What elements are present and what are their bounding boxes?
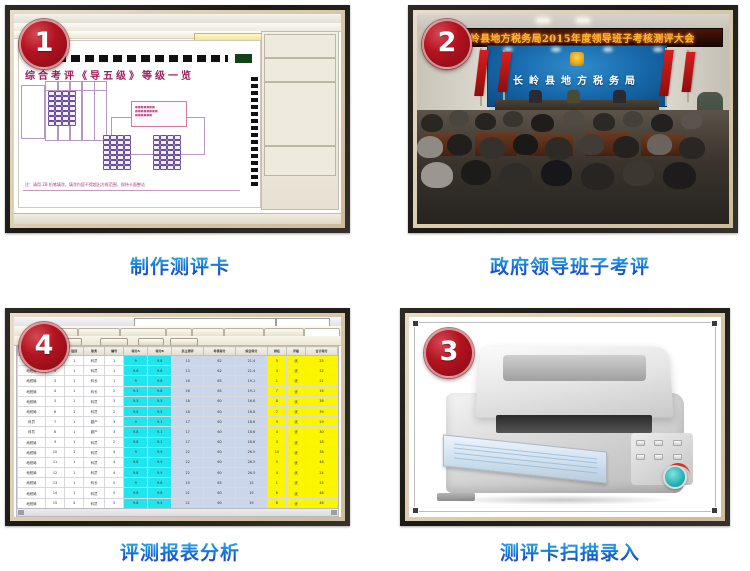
step-badge-1: 1 (19, 19, 69, 69)
answer-bubble (110, 165, 117, 170)
table-cell: 60 (204, 498, 236, 508)
table-cell: 优 (286, 457, 305, 467)
panel-key (654, 454, 663, 460)
audience-head (475, 113, 496, 130)
table-cell: 19.1 (235, 376, 267, 386)
table-cell: 21 (306, 376, 338, 386)
table-cell: 9.8 (148, 376, 172, 386)
table-cell: 地税局 (18, 478, 46, 488)
app1-property-panel[interactable] (261, 31, 339, 210)
table-cell: 9.8 (124, 457, 148, 467)
table-cell: 1 (267, 376, 286, 386)
table-cell: 65 (204, 386, 236, 396)
table-cell: 1 (65, 366, 84, 376)
panel-key (673, 440, 682, 446)
table-cell: 65 (204, 478, 236, 488)
table-cell: 22 (172, 468, 204, 478)
table-cell: 4 (267, 468, 286, 478)
table-cell: 29 (306, 417, 338, 427)
audience-head (623, 160, 654, 186)
table-cell: 60 (204, 427, 236, 437)
audience-head (663, 162, 696, 189)
table-cell: 21 (172, 488, 204, 498)
table-cell: 60 (204, 447, 236, 457)
table-cell: 优 (286, 386, 305, 396)
table-cell: 地税局 (18, 376, 46, 386)
table-row[interactable]: 科员71副产399.1176018.69优29 (18, 417, 338, 427)
step-badge-4: 4 (19, 322, 69, 372)
form-footnote: 注：请用 2B 铅笔填涂，填涂内容不得超出方框范围，保持卡面整洁 (25, 182, 230, 188)
audience-head (593, 113, 615, 131)
form-table-1-col4 (81, 81, 95, 141)
panel-4[interactable]: 单位序号组别职务编号得分A得分B民主测评考核得分综合得分排名评级合计得分 1科员… (5, 308, 350, 526)
panel-2[interactable]: 长岭县地方税务局2015年度领导班子考核测评大会 长岭县地方税务局 (408, 5, 738, 233)
scanner-shadow (446, 495, 677, 505)
table-cell: 21.4 (235, 356, 267, 366)
prop-group-4 (264, 146, 336, 176)
audience-head (581, 163, 614, 190)
table-cell: 地税局 (18, 437, 46, 447)
table-cell: 地税局 (18, 488, 46, 498)
audience-head (563, 110, 584, 127)
table-cell: 科长 (84, 478, 105, 488)
audience-head (449, 110, 469, 126)
audience-head (545, 137, 572, 160)
table-cell: 5 (45, 396, 64, 406)
audience-head (531, 114, 554, 132)
scanner-start-button[interactable] (663, 465, 687, 489)
table-cell: 9.6 (124, 366, 148, 376)
prop-group-2 (264, 58, 336, 82)
scroll-right-arrow[interactable] (331, 510, 337, 515)
answer-bubble (55, 121, 62, 126)
panel-3[interactable]: 3 (400, 308, 730, 526)
column-header[interactable]: 合计得分 (306, 347, 338, 356)
table-cell: 优 (286, 406, 305, 416)
table-cell: 5 (105, 498, 124, 508)
form-foot-rule (23, 190, 240, 191)
table-cell: 地税局 (18, 468, 46, 478)
table-cell: 科员 (18, 417, 46, 427)
table-cell: 39 (306, 406, 338, 416)
table-cell: 1 (65, 437, 84, 447)
table-cell: 18 (306, 437, 338, 447)
table-cell: 科员 (84, 468, 105, 478)
bubble-grid-b (103, 135, 130, 169)
table-cell: 11 (45, 457, 64, 467)
table-cell: 5 (267, 356, 286, 366)
column-header[interactable]: 综合得分 (235, 347, 267, 356)
column-header[interactable]: 民主测评 (172, 347, 204, 356)
table-cell: 9.6 (124, 406, 148, 416)
answer-bubble (167, 165, 174, 170)
answer-bubble (153, 165, 160, 170)
table-cell: 4 (45, 386, 64, 396)
table-row[interactable]: 地税局41科长29.39.8166519.17优16 (18, 386, 338, 396)
resize-handle-tl (412, 320, 419, 327)
table-cell: 科员 (84, 447, 105, 457)
panel-key (636, 440, 645, 446)
table-cell: 8 (267, 498, 286, 508)
table-cell: 26.5 (235, 447, 267, 457)
table-row[interactable]: 地税局51科员39.59.5186016.88优38 (18, 396, 338, 406)
column-header[interactable]: 得分B (148, 347, 172, 356)
table-cell: 1 (65, 427, 84, 437)
table-cell: 38 (306, 447, 338, 457)
table-cell: 9 (124, 447, 148, 457)
table-cell: 科员 (18, 427, 46, 437)
table-cell: 9.8 (148, 386, 172, 396)
table-cell: 21 (172, 498, 204, 508)
table-cell: 8 (267, 488, 286, 498)
audience-head (647, 134, 672, 155)
table-row[interactable]: 地税局31科长199.8166519.11优21 (18, 376, 338, 386)
answer-bubble (62, 121, 69, 126)
table-cell: 9 (267, 417, 286, 427)
column-header[interactable]: 编号 (105, 347, 124, 356)
answer-bubble (174, 165, 181, 170)
table-cell: 1 (105, 366, 124, 376)
table-cell: 17 (172, 427, 204, 437)
table-cell: 9.8 (148, 488, 172, 498)
table-cell: 5 (105, 478, 124, 488)
table-row[interactable]: 地税局21科员19.69.8136221.43优32 (18, 366, 338, 376)
answer-bubble (117, 165, 124, 170)
audience-head (579, 134, 604, 155)
tax-bureau-emblem-icon (570, 52, 584, 66)
prop-group-3 (264, 82, 336, 146)
table-cell: 16 (306, 386, 338, 396)
table-cell: 26.5 (235, 457, 267, 467)
step-badge-3: 3 (424, 328, 474, 378)
table-cell: 科员 (84, 396, 105, 406)
table-cell: 9.8 (124, 498, 148, 508)
table-row[interactable]: 地税局61科员29.69.5186016.87优39 (18, 406, 338, 416)
table-cell: 1 (65, 468, 84, 478)
scroll-left-arrow[interactable] (18, 510, 24, 515)
report-table: 单位序号组别职务编号得分A得分B民主测评考核得分综合得分排名评级合计得分 1科员… (17, 346, 338, 509)
report-table-wrapper[interactable]: 单位序号组别职务编号得分A得分B民主测评考核得分综合得分排名评级合计得分 1科员… (16, 345, 339, 509)
table-cell: 4 (65, 498, 84, 508)
answer-bubble (103, 165, 110, 170)
table-row[interactable]: 地税局91科员29.89.1176018.63优18 (18, 437, 338, 447)
table-cell: 9 (124, 417, 148, 427)
table-cell: 46 (306, 498, 338, 508)
audience-head (421, 114, 443, 132)
table-cell: 1 (65, 396, 84, 406)
table-cell: 9.9 (148, 468, 172, 478)
table-cell: 1 (65, 406, 84, 416)
stage-spotlight (653, 47, 663, 52)
table-cell: 3 (267, 366, 286, 376)
table-cell: 9.5 (124, 396, 148, 406)
table-cell: 优 (286, 498, 305, 508)
table-cell: 10 (267, 447, 286, 457)
table-cell: 1 (65, 488, 84, 498)
table-cell: 9.1 (148, 437, 172, 447)
table-cell: 38 (306, 396, 338, 406)
column-header[interactable]: 评级 (286, 347, 305, 356)
panel-key (673, 454, 682, 460)
horizontal-scrollbar[interactable] (16, 508, 339, 517)
table-cell: 1 (65, 386, 84, 396)
form-title: 综合考评《导五级》等级一览 (25, 67, 194, 82)
table-cell: 科长 (84, 376, 105, 386)
table-cell: 1 (65, 447, 84, 457)
table-cell: 15 (45, 498, 64, 508)
panel-1[interactable]: 综合考评《导五级》等级一览 (5, 5, 350, 233)
table-cell: 3 (105, 396, 124, 406)
table-cell: 19 (235, 488, 267, 498)
audience-head (513, 134, 538, 155)
audience-head (541, 160, 572, 186)
table-cell: 26.5 (235, 468, 267, 478)
audience-head (681, 112, 702, 129)
answer-bubble (124, 165, 131, 170)
table-cell: 3 (45, 376, 64, 386)
audience-head (447, 134, 472, 155)
table-cell: 1 (65, 417, 84, 427)
table-cell: 科员 (84, 356, 105, 366)
table-cell: 优 (286, 417, 305, 427)
table-row[interactable]: 地税局111科员49.89.9226026.55优46 (18, 457, 338, 467)
prop-group-1 (264, 34, 336, 58)
table-cell: 9 (45, 437, 64, 447)
table-cell: 1 (65, 356, 84, 366)
table-cell: 46 (306, 457, 338, 467)
stage-spotlight (603, 47, 613, 52)
answer-bubble (160, 165, 167, 170)
table-cell: 1 (105, 376, 124, 386)
instruction-box: ■■■■■■■■■■■■■■■■■■■■■ (131, 101, 187, 127)
table-cell: 2 (105, 437, 124, 447)
column-header[interactable]: 考核得分 (204, 347, 236, 356)
column-header[interactable]: 得分A (124, 347, 148, 356)
table-cell: 优 (286, 366, 305, 376)
column-header[interactable]: 职务 (84, 347, 105, 356)
table-cell: 19 (172, 478, 204, 488)
table-cell: 19 (235, 498, 267, 508)
table-cell: 科员 (84, 366, 105, 376)
app1-statusbar (14, 213, 341, 224)
table-cell: 6 (45, 406, 64, 416)
table-cell: 30 (306, 427, 338, 437)
seated-official (567, 90, 580, 103)
table-cell: 优 (286, 447, 305, 457)
audience-head (461, 160, 491, 185)
table-cell: 5 (267, 457, 286, 467)
table-cell: 60 (204, 417, 236, 427)
table-cell: 9.8 (124, 488, 148, 498)
table-cell: 19.1 (235, 386, 267, 396)
table-cell: 科员 (84, 437, 105, 447)
resize-handle-tr (711, 320, 718, 327)
table-cell: 9.9 (148, 447, 172, 457)
table-cell: 地税局 (18, 406, 46, 416)
scanner-feed-slot (496, 415, 652, 433)
table-cell: 15 (235, 478, 267, 488)
step-badge-2: 2 (422, 19, 472, 69)
panel-4-caption: 评测报表分析 (0, 538, 360, 565)
audience-head (421, 162, 453, 188)
stage-spotlight (551, 47, 561, 52)
table-cell: 5 (105, 488, 124, 498)
table-cell: 18.6 (235, 437, 267, 447)
table-cell: 3 (105, 417, 124, 427)
table-cell: 地税局 (18, 447, 46, 457)
table-cell: 16.8 (235, 406, 267, 416)
scanner-output-tray (503, 355, 647, 381)
table-cell: 9.8 (124, 437, 148, 447)
table-cell: 24 (306, 468, 338, 478)
table-cell: 副产 (84, 417, 105, 427)
table-cell: 地税局 (18, 396, 46, 406)
table-cell: 优 (286, 356, 305, 366)
table-cell: 科长 (84, 386, 105, 396)
panel-2-caption: 政府领导班子考评 (390, 252, 750, 279)
seated-official (613, 90, 626, 103)
table-cell: 9.5 (148, 406, 172, 416)
ceiling-light (537, 19, 549, 22)
table-cell: 优 (286, 376, 305, 386)
table-cell: 9.9 (148, 457, 172, 467)
table-cell: 9 (124, 478, 148, 488)
table-cell: 3 (105, 427, 124, 437)
table-cell: 优 (286, 396, 305, 406)
table-cell: 9.8 (148, 478, 172, 488)
seated-official (529, 90, 542, 103)
table-cell: 2 (105, 386, 124, 396)
audience-head (623, 111, 643, 127)
instruction-text: ■■■■■■■■■■■■■■■■■■■■■ (135, 105, 158, 117)
table-cell: 科员 (84, 488, 105, 498)
table-cell: 10 (45, 447, 64, 457)
table-cell: 65 (204, 376, 236, 386)
table-cell: 9.1 (148, 427, 172, 437)
bubble-grid-c (153, 135, 180, 169)
panel-1-caption: 制作测评卡 (0, 252, 360, 279)
table-cell: 21.4 (235, 366, 267, 376)
table-cell: 9 (124, 356, 148, 366)
table-row[interactable]: 地税局141科员59.89.82160198优46 (18, 488, 338, 498)
table-cell: 8 (45, 427, 64, 437)
table-cell: 8 (267, 396, 286, 406)
form-table-left (21, 85, 45, 139)
table-cell: 62 (204, 366, 236, 376)
table-cell: 22 (172, 457, 204, 467)
table-cell: 32 (306, 366, 338, 376)
table-cell: 60 (204, 488, 236, 498)
table-cell: 17 (172, 417, 204, 427)
table-cell: 60 (204, 457, 236, 467)
table-cell: 12 (45, 468, 64, 478)
table-cell: 9.5 (148, 396, 172, 406)
table-row[interactable]: 地税局131科长599.81965151优25 (18, 478, 338, 488)
ceiling-light (577, 19, 589, 22)
table-row[interactable]: 地税局121科员49.89.9226026.54优24 (18, 468, 338, 478)
table-cell: 1 (105, 356, 124, 366)
table-cell: 9.4 (148, 498, 172, 508)
table-cell: 46 (306, 488, 338, 498)
table-cell: 13 (45, 478, 64, 488)
resize-handle-br (711, 507, 718, 514)
table-cell: 地税局 (18, 457, 46, 467)
table-cell: 18.6 (235, 417, 267, 427)
right-timing-rail (251, 77, 258, 187)
table-cell: 4 (267, 427, 286, 437)
table-cell: 科员 (84, 406, 105, 416)
table-cell: 13 (172, 356, 204, 366)
audience-head (679, 137, 705, 159)
table-row[interactable]: 地税局154科员59.89.42160198优46 (18, 498, 338, 508)
table-cell: 13 (172, 366, 204, 376)
corner-register-block (235, 54, 252, 63)
table-cell: 3 (267, 437, 286, 447)
table-cell: 16.8 (235, 396, 267, 406)
table-cell: 16 (172, 386, 204, 396)
table-cell: 科员 (84, 457, 105, 467)
table-cell: 60 (204, 406, 236, 416)
table-row[interactable]: 科员81副产39.89.1176018.64优30 (18, 427, 338, 437)
audience-crowd (417, 110, 729, 224)
table-cell: 副产 (84, 427, 105, 437)
table-cell: 60 (204, 468, 236, 478)
table-cell: 16 (172, 376, 204, 386)
table-cell: 25 (306, 478, 338, 488)
backdrop-title: 长岭县地方税务局 (488, 72, 666, 87)
table-cell: 18 (172, 396, 204, 406)
table-cell: 9 (124, 376, 148, 386)
panel-key (636, 454, 645, 460)
table-cell: 14 (45, 488, 64, 498)
table-cell: 7 (267, 406, 286, 416)
table-cell: 科员 (84, 498, 105, 508)
table-cell: 4 (105, 457, 124, 467)
table-cell: 4 (105, 447, 124, 457)
table-cell: 9.8 (124, 468, 148, 478)
column-header[interactable]: 排名 (267, 347, 286, 356)
panel-key (654, 440, 663, 446)
table-cell: 优 (286, 478, 305, 488)
table-cell: 25 (306, 356, 338, 366)
audience-head (613, 136, 639, 158)
table-row[interactable]: 地税局101科员499.9226026.510优38 (18, 447, 338, 457)
table-cell: 60 (204, 437, 236, 447)
table-cell: 18 (172, 406, 204, 416)
table-cell: 9.8 (148, 356, 172, 366)
table-cell: 1 (267, 478, 286, 488)
table-cell: 优 (286, 468, 305, 478)
table-cell: 优 (286, 437, 305, 447)
table-cell: 4 (105, 468, 124, 478)
table-cell: 1 (65, 457, 84, 467)
table-cell: 1 (65, 376, 84, 386)
table-cell: 60 (204, 396, 236, 406)
audience-head (479, 137, 505, 159)
resize-handle-bl (412, 507, 419, 514)
audience-head (651, 114, 673, 132)
audience-head (503, 111, 523, 127)
table-cell: 地税局 (18, 386, 46, 396)
table-cell: 22 (172, 447, 204, 457)
table-cell: 62 (204, 356, 236, 366)
bubble-grid-a (48, 91, 75, 125)
table-cell: 7 (45, 417, 64, 427)
audience-head (499, 163, 532, 190)
table-cell: 9.3 (124, 386, 148, 396)
table-cell: 优 (286, 488, 305, 498)
table-cell: 2 (105, 406, 124, 416)
